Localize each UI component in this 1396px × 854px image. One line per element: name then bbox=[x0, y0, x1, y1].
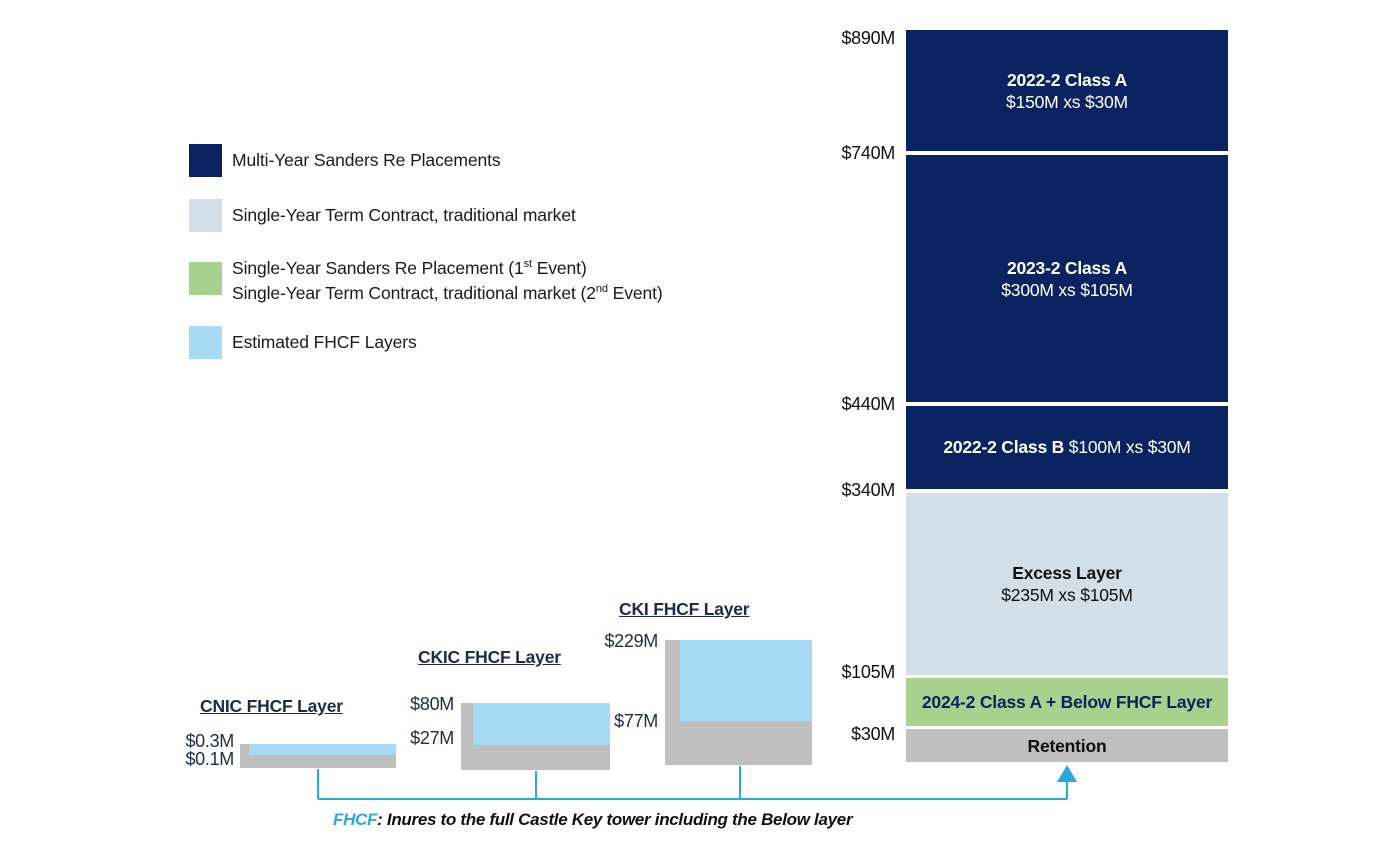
footnote-highlight: FHCF bbox=[333, 810, 377, 829]
segment-subtitle: $235M xs $105M bbox=[1001, 584, 1132, 606]
tower-stack: 2022-2 Class A $150M xs $30M 2023-2 Clas… bbox=[906, 30, 1228, 762]
segment-subtitle: $100M xs $30M bbox=[1064, 437, 1191, 457]
fhcf-bar-cki-blue[interactable] bbox=[680, 640, 812, 721]
segment-title: Retention bbox=[1028, 735, 1107, 757]
column-label-cki-bottom: $77M bbox=[548, 711, 658, 732]
column-label-cnic-bottom: $0.1M bbox=[130, 749, 234, 770]
axis-label-740m: $740M bbox=[761, 143, 895, 164]
column-label-cki-top: $229M bbox=[548, 631, 658, 652]
tower-segment-2022-2-class-b[interactable]: 2022-2 Class B $100M xs $30M bbox=[906, 406, 1228, 489]
segment-title: 2022-2 Class B bbox=[943, 437, 1064, 457]
segment-title: 2022-2 Class A bbox=[1007, 69, 1127, 91]
tower-segment-retention[interactable]: Retention bbox=[906, 729, 1228, 762]
segment-title: 2024-2 Class A + Below FHCF Layer bbox=[922, 691, 1212, 713]
axis-label-340m: $340M bbox=[761, 480, 895, 501]
tower-segment-excess-layer[interactable]: Excess Layer $235M xs $105M bbox=[906, 493, 1228, 675]
segment-title: Excess Layer bbox=[1012, 562, 1122, 584]
axis-label-440m: $440M bbox=[761, 394, 895, 415]
segment-inline-label: 2022-2 Class B $100M xs $30M bbox=[943, 437, 1190, 458]
reinsurance-tower-diagram: Multi-Year Sanders Re Placements Single-… bbox=[0, 0, 1396, 854]
segment-subtitle: $300M xs $105M bbox=[1001, 279, 1132, 301]
column-title-cki: CKI FHCF Layer bbox=[619, 599, 749, 620]
segment-subtitle: $150M xs $30M bbox=[1006, 91, 1128, 113]
tower-segment-2024-2-class-a-below-fhcf[interactable]: 2024-2 Class A + Below FHCF Layer bbox=[906, 678, 1228, 726]
column-label-ckic-bottom: $27M bbox=[350, 728, 454, 749]
tower-segment-2023-2-class-a[interactable]: 2023-2 Class A $300M xs $105M bbox=[906, 155, 1228, 402]
column-title-ckic: CKIC FHCF Layer bbox=[418, 647, 561, 668]
column-label-ckic-top: $80M bbox=[350, 694, 454, 715]
segment-title: 2023-2 Class A bbox=[1007, 257, 1127, 279]
column-title-cnic: CNIC FHCF Layer bbox=[200, 696, 343, 717]
axis-label-890m: $890M bbox=[761, 28, 895, 49]
tower-segment-2022-2-class-a[interactable]: 2022-2 Class A $150M xs $30M bbox=[906, 30, 1228, 151]
footnote-text: : Inures to the full Castle Key tower in… bbox=[377, 810, 852, 829]
footnote: FHCF: Inures to the full Castle Key towe… bbox=[333, 810, 852, 830]
